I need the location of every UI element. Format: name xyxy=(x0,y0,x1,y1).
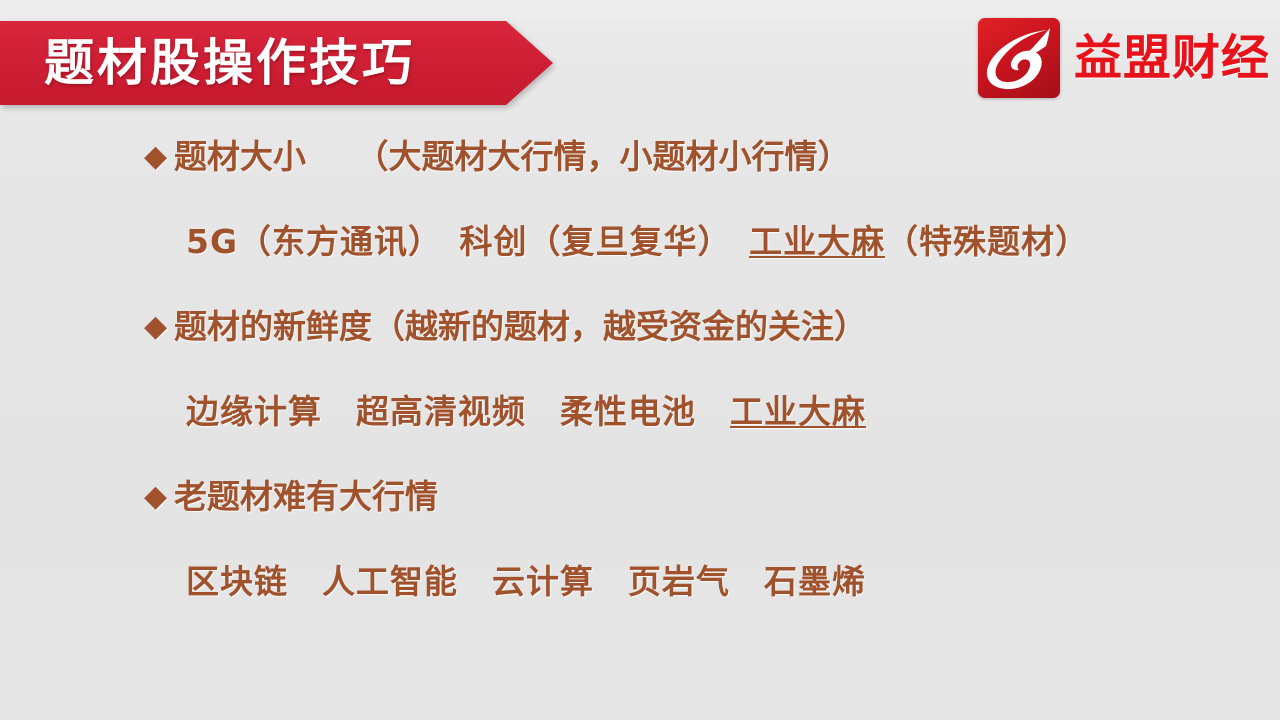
content-line-2-part-1: 5G（东方通讯） 科创（复旦复华） xyxy=(186,218,749,266)
brand-name: 益盟财经 xyxy=(1074,34,1270,82)
content-line-1: ◆ 题材大小 （大题材大行情，小题材小行情） xyxy=(0,133,1280,218)
diamond-bullet-icon: ◆ xyxy=(144,133,167,181)
diamond-bullet-icon: ◆ xyxy=(144,303,167,351)
brand-logo: 益盟财经 xyxy=(978,17,1270,99)
slide-content: ◆ 题材大小 （大题材大行情，小题材小行情） 5G（东方通讯） 科创（复旦复华）… xyxy=(0,133,1280,643)
content-line-4-part-2-underlined: 工业大麻 xyxy=(730,388,866,436)
content-line-3: ◆ 题材的新鲜度（越新的题材，越受资金的关注） xyxy=(0,303,1280,388)
content-line-5: ◆ 老题材难有大行情 xyxy=(0,473,1280,558)
content-line-2-part-3: （特殊题材） xyxy=(885,218,1089,266)
content-line-6-part-1: 区块链 人工智能 云计算 页岩气 石墨烯 xyxy=(186,558,866,606)
content-line-2-part-2-underlined: 工业大麻 xyxy=(749,218,885,266)
content-line-3-text: 题材的新鲜度（越新的题材，越受资金的关注） xyxy=(144,303,867,351)
page-title: 题材股操作技巧 xyxy=(44,21,415,105)
content-line-6: 区块链 人工智能 云计算 页岩气 石墨烯 xyxy=(0,558,1280,643)
diamond-bullet-icon: ◆ xyxy=(144,473,167,521)
yimeng-e-swoosh-mark-icon xyxy=(978,18,1060,98)
content-line-1-text: 题材大小 （大题材大行情，小题材小行情） xyxy=(144,133,851,181)
content-line-2: 5G（东方通讯） 科创（复旦复华） 工业大麻（特殊题材） xyxy=(0,218,1280,303)
content-line-5-text: 老题材难有大行情 xyxy=(144,473,438,521)
content-line-4-part-1: 边缘计算 超高清视频 柔性电池 xyxy=(186,388,730,436)
title-banner: 题材股操作技巧 xyxy=(0,21,553,105)
content-line-4: 边缘计算 超高清视频 柔性电池 工业大麻 xyxy=(0,388,1280,473)
presentation-slide: 题材股操作技巧 益盟财经 ◆ 题材大小 （大题材大行情，小题材小行情） 5G（东… xyxy=(0,0,1280,720)
